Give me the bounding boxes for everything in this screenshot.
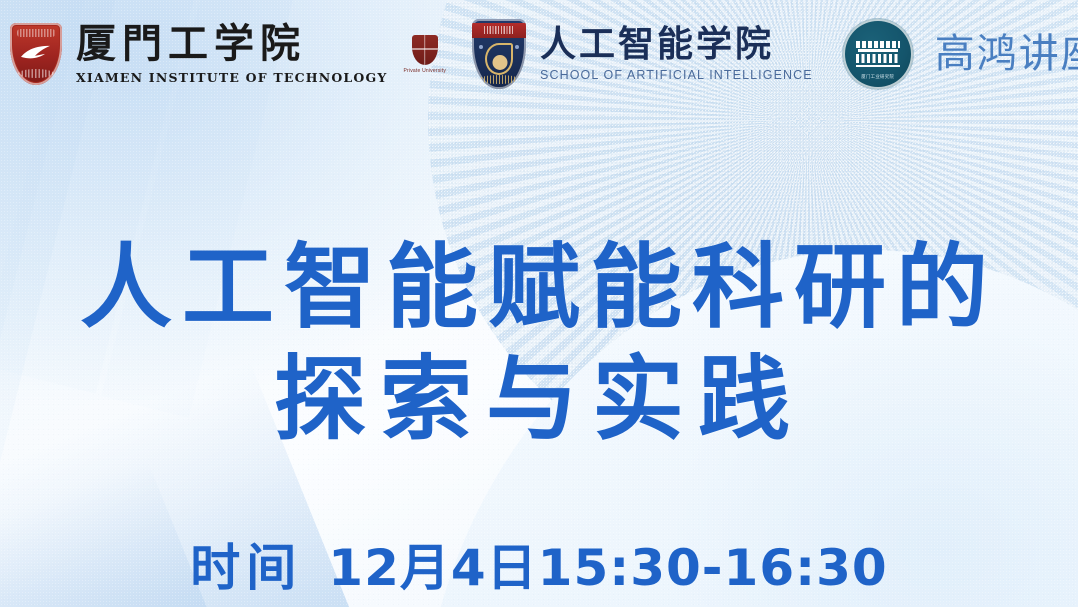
event-time-row: 时间 12月4日15:30-16:30 [0, 543, 1078, 593]
crest-shape [412, 35, 438, 65]
page-title: 人工智能赋能科研的 探索与实践 [0, 232, 1078, 456]
emblem-row-bottom [856, 54, 900, 63]
emblem-base [856, 65, 900, 68]
emblem-building-graphic [856, 41, 900, 67]
lecture-series-title: 高鸿讲座第14期 [935, 34, 1078, 74]
emblem-bar [858, 49, 898, 52]
private-university-crest-icon: Private University [404, 35, 447, 74]
university-logo-group: 厦門工学院 XIAMEN INSTITUTE OF TECHNOLOGY Pri… [10, 23, 446, 85]
emblem-row-top [856, 41, 900, 48]
school-name-en: SCHOOL OF ARTIFICIAL INTELLIGENCE [540, 68, 813, 82]
lecture-poster: 厦門工学院 XIAMEN INSTITUTE OF TECHNOLOGY Pri… [0, 0, 1078, 607]
shield-banner [472, 23, 526, 38]
school-name-cn: 人工智能学院 [540, 26, 813, 62]
school-wordmark: 人工智能学院 SCHOOL OF ARTIFICIAL INTELLIGENCE [540, 26, 813, 82]
crest-caption: Private University [404, 68, 447, 74]
school-logo-group: 人工智能学院 SCHOOL OF ARTIFICIAL INTELLIGENCE [446, 19, 813, 89]
school-of-artificial-intelligence-shield-icon [472, 19, 526, 89]
university-wordmark: 厦門工学院 XIAMEN INSTITUTE OF TECHNOLOGY [76, 24, 388, 85]
time-value: 12月4日15:30-16:30 [328, 543, 887, 593]
university-name-cn: 厦門工学院 [76, 24, 388, 64]
shield-face [493, 55, 508, 70]
emblem-caption: 厦门工业研究院 [843, 74, 913, 80]
shield-star-left [479, 45, 483, 49]
header-logo-bar: 厦門工学院 XIAMEN INSTITUTE OF TECHNOLOGY Pri… [0, 0, 1078, 108]
time-label: 时间 [190, 543, 302, 593]
shield-star-right [515, 45, 519, 49]
shield-arc-text [478, 75, 520, 84]
xiamen-institute-of-technology-shield-icon [10, 23, 62, 85]
title-line-1: 人工智能赋能科研的 [0, 232, 1078, 344]
gaohong-lecture-circular-emblem-icon: 厦门工业研究院 [843, 19, 913, 89]
university-name-en: XIAMEN INSTITUTE OF TECHNOLOGY [76, 70, 388, 85]
title-line-2: 探索与实践 [0, 344, 1078, 456]
